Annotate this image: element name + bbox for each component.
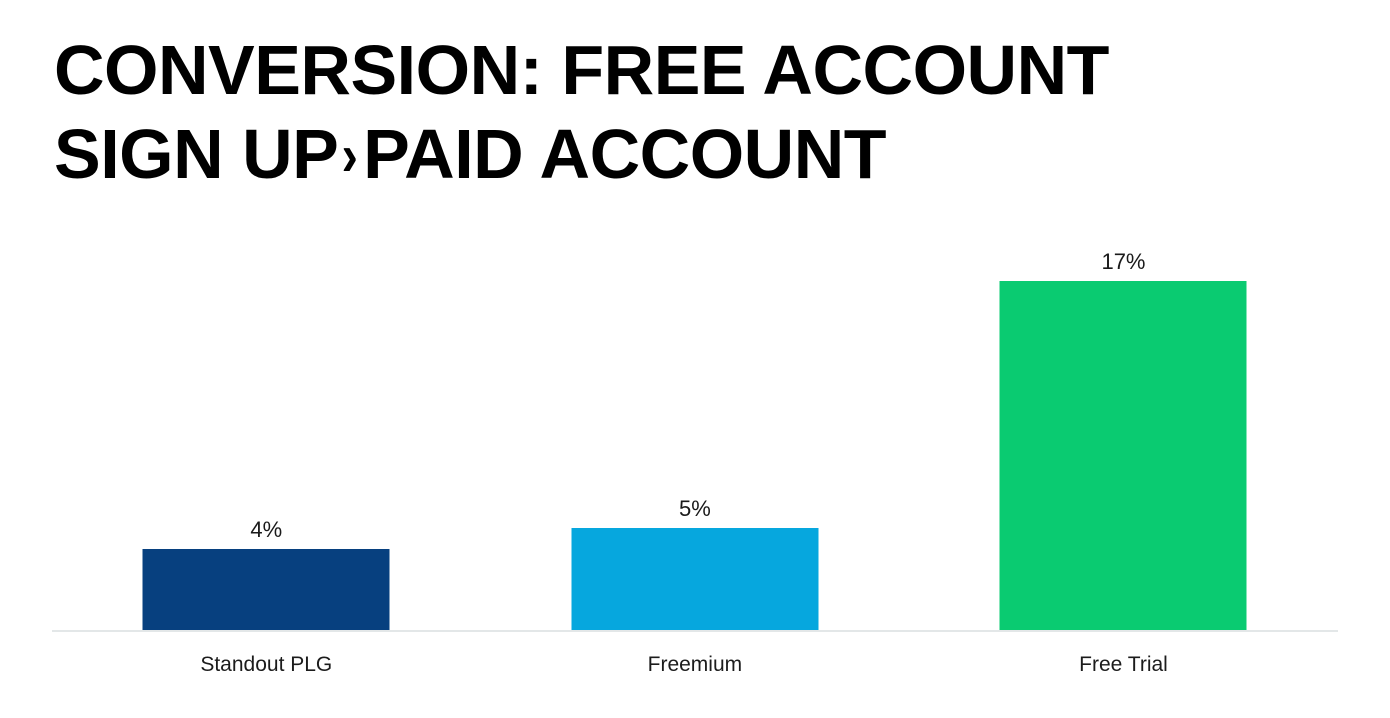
bar-value-label-freemium: 5%: [679, 496, 711, 522]
bar-value-label-free-trial: 17%: [1101, 249, 1145, 275]
x-axis-line: [52, 630, 1338, 632]
bar-chart: 4% 5% 17% Standout PLG Freemium Free Tri…: [0, 0, 1390, 718]
x-axis-category-label-freemium: Freemium: [481, 652, 910, 678]
bar-group-freemium: 5%: [481, 240, 910, 631]
x-axis-category-label-standout-plg: Standout PLG: [52, 652, 481, 678]
bar-freemium[interactable]: [571, 528, 818, 631]
chart-plot-area: 4% 5% 17%: [52, 240, 1338, 631]
bar-group-standout-plg: 4%: [52, 240, 481, 631]
bar-free-trial[interactable]: [1000, 281, 1247, 631]
x-axis-category-label-free-trial: Free Trial: [909, 652, 1338, 678]
bar-value-label-standout-plg: 4%: [250, 517, 282, 543]
slide-canvas: CONVERSION: FREE ACCOUNT SIGN UP›PAID AC…: [0, 0, 1390, 718]
bar-group-free-trial: 17%: [909, 240, 1338, 631]
bar-standout-plg[interactable]: [143, 549, 390, 631]
